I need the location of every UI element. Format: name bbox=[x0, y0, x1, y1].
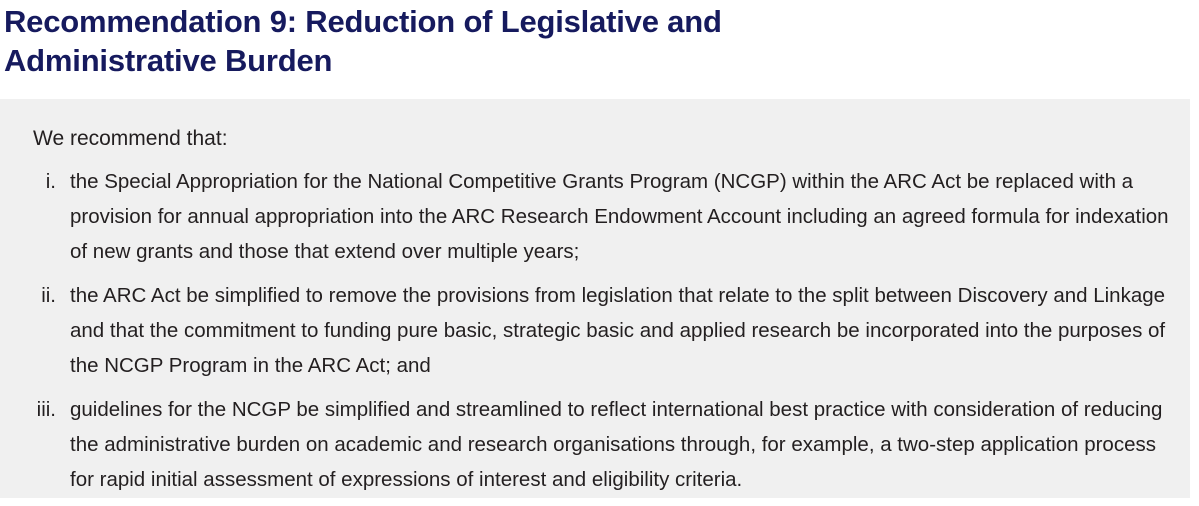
list-item: iii. guidelines for the NCGP be simplifi… bbox=[22, 392, 1172, 497]
recommendation-intro: We recommend that: bbox=[33, 124, 228, 154]
recommendation-list: i. the Special Appropriation for the Nat… bbox=[22, 164, 1172, 497]
list-item-marker: iii. bbox=[22, 392, 56, 427]
list-item-marker: i. bbox=[22, 164, 56, 199]
document-page: Recommendation 9: Reduction of Legislati… bbox=[0, 0, 1199, 506]
list-item-text: the ARC Act be simplified to remove the … bbox=[70, 278, 1172, 383]
list-item: i. the Special Appropriation for the Nat… bbox=[22, 164, 1172, 269]
list-item-text: guidelines for the NCGP be simplified an… bbox=[70, 392, 1172, 497]
list-item-text: the Special Appropriation for the Nation… bbox=[70, 164, 1172, 269]
list-item-marker: ii. bbox=[22, 278, 56, 313]
list-item: ii. the ARC Act be simplified to remove … bbox=[22, 278, 1172, 383]
recommendation-panel: We recommend that: i. the Special Approp… bbox=[0, 99, 1190, 498]
page-title: Recommendation 9: Reduction of Legislati… bbox=[4, 2, 904, 80]
